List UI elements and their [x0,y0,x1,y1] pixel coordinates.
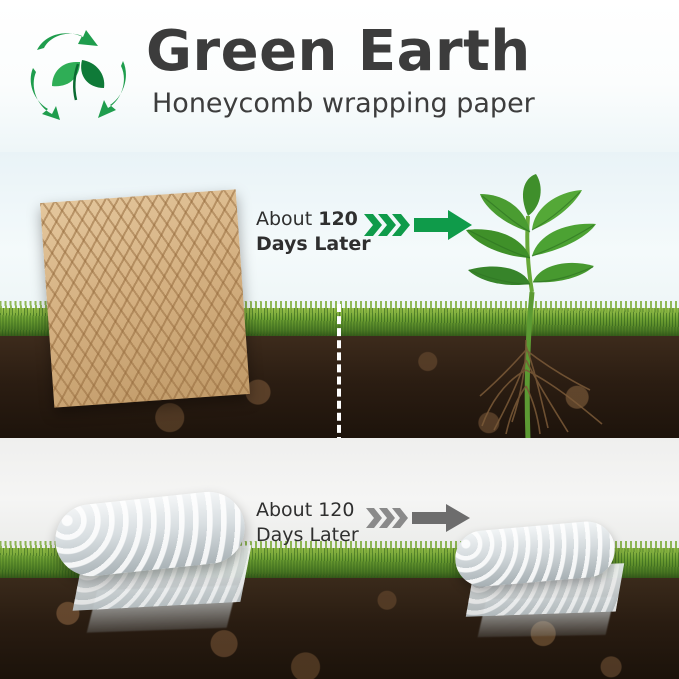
brand-subtitle: Honeycomb wrapping paper [152,88,535,120]
arrow-days-value: 120 [318,208,358,230]
honeycomb-paper-buried [40,189,250,407]
plastic-scene: About 120 Days Later [0,438,679,679]
plastic-arrow-label: About 120 Days Later [256,498,456,548]
honeycomb-scene: About 120 Days Later [0,152,679,438]
arrow-days-value-plastic: 120 [318,499,354,521]
product-infographic-poster: Green Earth Honeycomb wrapping paper [0,0,679,679]
brand-title: Green Earth [146,23,531,81]
green-arrow-icon [364,208,474,247]
honeycomb-arrow-label: About 120 Days Later [256,207,456,257]
scene-divider-top [337,304,341,438]
arrow-line1-prefix-plastic: About [256,499,318,521]
arrow-line1-prefix: About [256,208,318,230]
header-banner: Green Earth Honeycomb wrapping paper [0,0,679,152]
recycle-leaf-logo-icon [24,28,134,120]
plant-roots [468,340,618,436]
gray-arrow-icon [366,502,472,539]
